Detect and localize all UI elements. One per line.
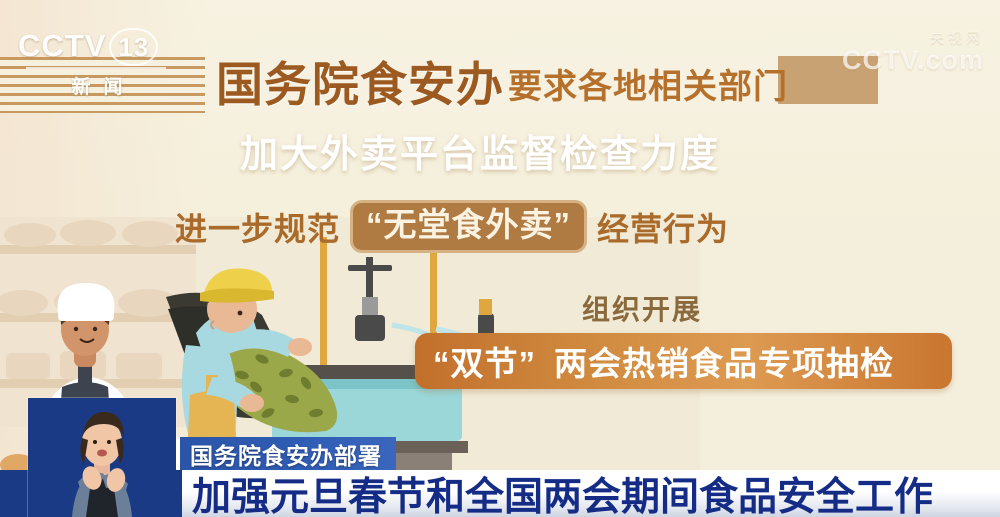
headline-line-1-rest: 要求各地相关部门 xyxy=(508,59,788,108)
headline-highlight-chip: “无堂食外卖” xyxy=(350,200,587,253)
headline-line-1: 国务院食安办 要求各地相关部门 xyxy=(216,52,788,108)
headline-banner: “双节”两会热销食品专项抽检 xyxy=(415,333,952,389)
banner-part-2: 两会热销食品专项抽检 xyxy=(554,345,894,382)
headline-banner-text: “双节”两会热销食品专项抽检 xyxy=(433,337,894,385)
headline-line-3: 进一步规范 “无堂食外卖” 经营行为 xyxy=(175,200,729,253)
headline-line-4: 组织开展 xyxy=(582,288,702,328)
headline-line-3-prefix: 进一步规范 xyxy=(175,204,340,250)
headline-line-3-suffix: 经营行为 xyxy=(597,204,729,250)
interpreter-video xyxy=(28,398,176,517)
headline-line-2: 加大外卖平台监督检查力度 xyxy=(240,123,720,178)
lower-third-kicker: 国务院食安办部署 xyxy=(176,437,396,470)
ticker-text: 加强元旦春节和全国两会期间食品安全工作 xyxy=(192,470,933,517)
lower-third-ticker: 加强元旦春节和全国两会期间食品安全工作 xyxy=(176,470,1000,517)
headline-emphasis: 国务院食安办 xyxy=(216,46,504,115)
sign-language-interpreter-inset xyxy=(28,398,176,517)
kicker-text: 国务院食安办部署 xyxy=(190,437,382,471)
banner-part-1: “双节” xyxy=(433,345,536,382)
decorative-tan-block xyxy=(778,56,878,104)
broadcast-screen: CCTV13 新闻 央视网 CCTV.com 国务院食安办 要求各地相关部门 加… xyxy=(0,0,1000,517)
